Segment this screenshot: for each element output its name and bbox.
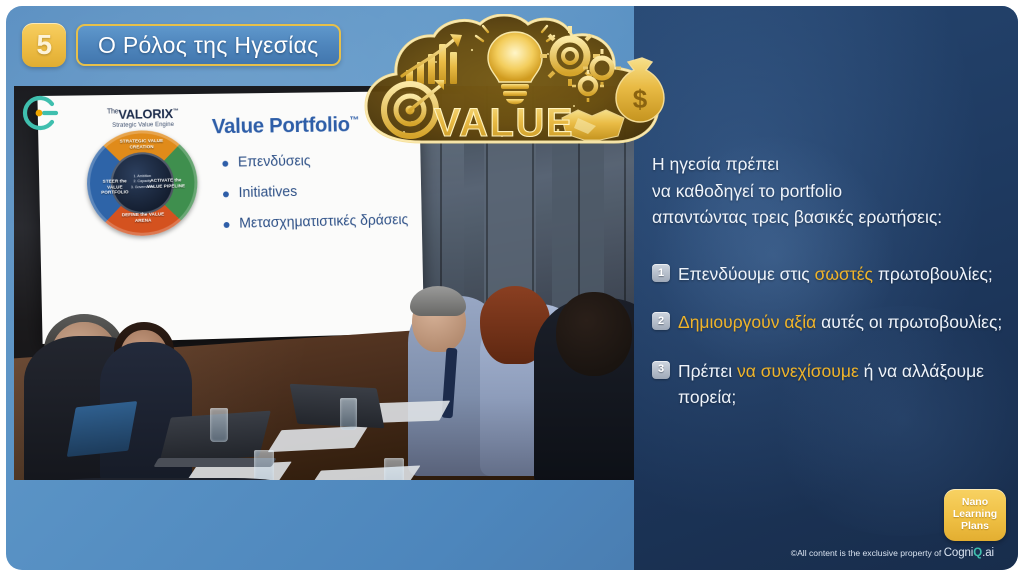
water-glass <box>210 408 228 442</box>
intro-text: Η ηγεσία πρέπει να καθοδηγεί το portfoli… <box>652 151 1004 231</box>
cogni-brand-suffix: .ai <box>982 547 994 559</box>
cogni-brand-prefix: Cogni <box>944 547 974 559</box>
screen-title-text: Value Portfolio <box>212 114 350 139</box>
intro-line: Η ηγεσία πρέπει <box>652 151 1004 178</box>
footer-copyright: ©All content is the exclusive property o… <box>0 547 1018 559</box>
question-text: Πρέπει να συνεχίσουμε ή να αλλάξουμε πορ… <box>678 361 984 407</box>
slide-root: TheVALORIX™ Strategic Value Engine STRAT… <box>0 0 1024 576</box>
laptop-icon <box>290 384 385 428</box>
wheel-quadrant-top: STRATEGIC VALUE CREATION <box>116 138 167 150</box>
cogni-brand-mark: Q <box>973 547 982 559</box>
water-glass <box>384 458 404 480</box>
status-badge: 1 <box>652 264 670 282</box>
list-item: 1 Επενδύουμε στις σωστές πρωτοβουλίες; <box>652 261 1008 287</box>
value-cloud-graphic: $ VALUE <box>352 14 678 172</box>
valorix-logo: TheVALORIX™ Strategic Value Engine <box>83 106 202 130</box>
valorix-wheel-diagram: STRATEGIC VALUE CREATION ACTIVATE the VA… <box>86 130 199 237</box>
valorix-tagline: Strategic Value Engine <box>84 122 202 130</box>
slide-number-badge: 5 <box>22 23 66 67</box>
money-bag-icon: $ <box>616 58 664 122</box>
screen-title: Value Portfolio™ <box>212 113 360 139</box>
question-list: 1 Επενδύουμε στις σωστές πρωτοβουλίες; 2… <box>652 261 1008 432</box>
value-word: VALUE <box>434 101 574 145</box>
valorix-brand-prefix: The <box>107 109 118 116</box>
laptop-icon <box>67 401 138 457</box>
status-badge: 2 <box>652 312 670 330</box>
wheel-core-line: 3. Governance <box>119 184 166 190</box>
status-badge: 3 <box>652 361 670 379</box>
list-item: Initiatives <box>223 182 408 201</box>
question-text: Επενδύουμε στις σωστές πρωτοβουλίες; <box>678 264 993 284</box>
svg-text:$: $ <box>633 84 648 114</box>
water-glass <box>340 398 357 430</box>
question-text: Δημιουργούν αξία αυτές οι πρωτοβουλίες; <box>678 312 1002 332</box>
copyright-text: ©All content is the exclusive property o… <box>791 548 944 558</box>
nano-learning-plans-badge[interactable]: Nano Learning Plans <box>944 489 1006 541</box>
list-item: 2 Δημιουργούν αξία αυτές οι πρωτοβουλίες… <box>652 309 1008 335</box>
intro-line: απαντώντας τρεις βασικές ερωτήσεις: <box>652 204 1004 231</box>
valorix-brand: VALORIX <box>118 106 173 122</box>
wheel-quadrant-bottom: DEFINE the VALUE ARENA <box>117 211 168 223</box>
nano-badge-line3: Plans <box>961 521 989 533</box>
intro-line: να καθοδηγεί το portfolio <box>652 178 1004 205</box>
valorix-brand-tm: ™ <box>173 109 179 115</box>
list-item: Μετασχηματιστικές δράσεις <box>223 212 408 232</box>
content-panel: Η ηγεσία πρέπει να καθοδηγεί το portfoli… <box>634 6 1018 570</box>
person-right-head <box>556 292 632 376</box>
water-glass <box>254 450 274 480</box>
list-item: 3 Πρέπει να συνεχίσουμε ή να αλλάξουμε π… <box>652 358 1008 411</box>
page-title: Ο Ρόλος της Ηγεσίας <box>76 24 341 66</box>
wheel-core-lines: 1. Ambition 2. Capacity 3. Governance <box>119 174 167 191</box>
page-title-text: Ο Ρόλος της Ηγεσίας <box>98 32 319 59</box>
cogni-c-icon <box>18 92 60 134</box>
